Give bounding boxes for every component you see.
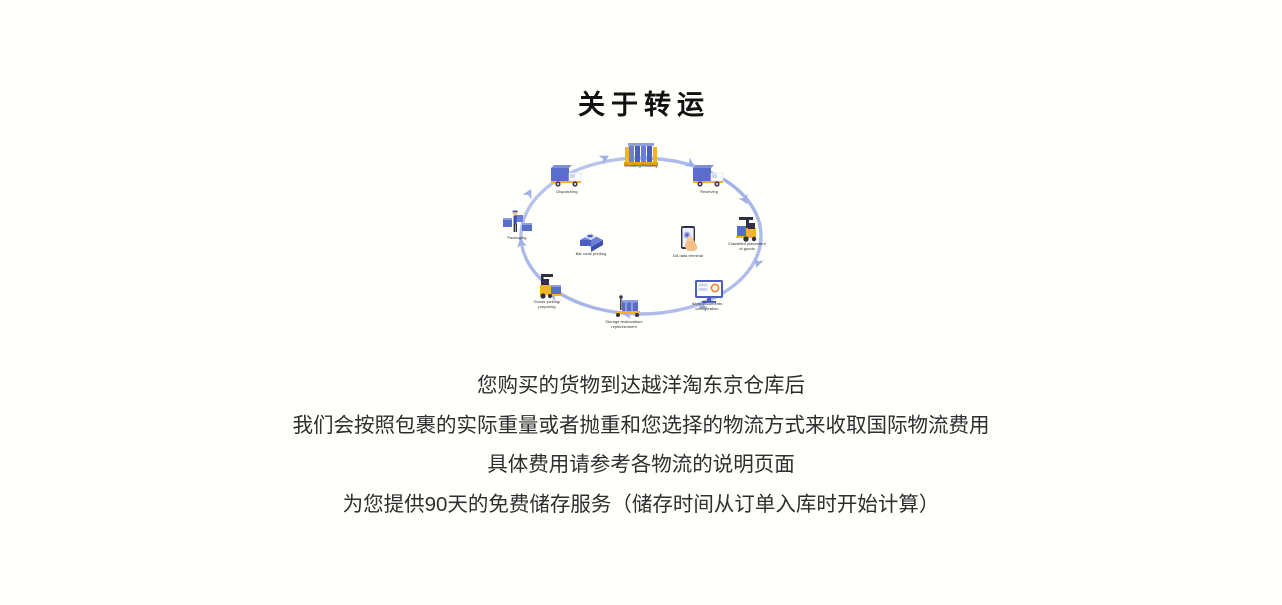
forklift-load-icon (540, 274, 562, 299)
pallet-jack-icon (616, 295, 640, 317)
forklift-icon (736, 217, 756, 242)
monitor-icon (695, 280, 723, 303)
description-line-2: 我们会按照包裹的实际重量或者抛重和您选择的物流方式来收取国际物流费用 (293, 413, 990, 439)
page-title: 关于转运 (572, 92, 710, 119)
description-block: 您购买的货物到达越洋淘东京仓库后 我们会按照包裹的实际重量或者抛重和您选择的物流… (293, 373, 990, 518)
process-cycle-arrows (491, 139, 791, 339)
description-line-3: 具体费用请参考各物流的说明页面 (293, 452, 990, 478)
truck-icon-receiving (693, 165, 723, 187)
pallet-rack-icon (624, 143, 658, 166)
truck-icon-dispatching (551, 165, 581, 187)
warehouse-process-diagram: Counting/Stocking Receiving Classified p… (491, 139, 791, 339)
description-line-1: 您购买的货物到达越洋淘东京仓库后 (293, 373, 990, 399)
page-root: 关于转运 (0, 0, 1282, 605)
printer-icon (580, 233, 603, 252)
mobile-touch-icon (681, 226, 697, 251)
description-line-4: 为您提供90天的免费储存服务（储存时间从订单入库时开始计算） (293, 492, 990, 518)
